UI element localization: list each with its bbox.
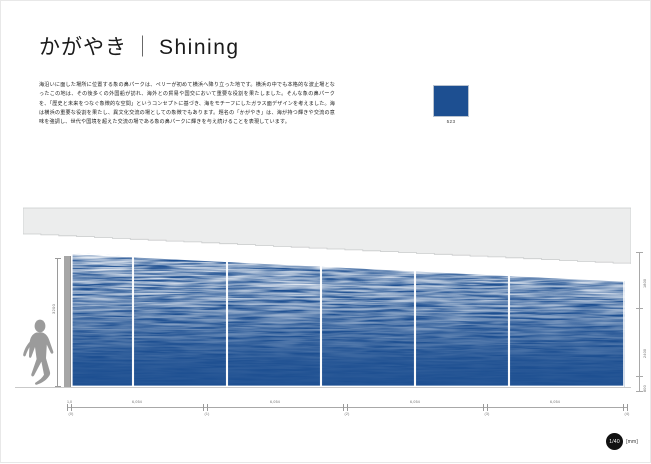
title-separator: ｜ (127, 36, 159, 59)
horizontal-dimension-segment: 6,054 (270, 400, 280, 404)
page-title: かがやき｜Shining (39, 31, 240, 61)
vertical-dimension-left (57, 258, 58, 387)
description-paragraph: 海沿いに面した場所に位置する象の鼻パークは、ペリーが初めて横浜へ降り立った地です… (39, 81, 335, 127)
vertical-dimension-line (639, 252, 640, 392)
color-swatch-label: 523 (433, 119, 469, 124)
horizontal-dimension-tick-label: (3) (485, 412, 490, 416)
description-block: 海沿いに面した場所に位置する象の鼻パークは、ペリーが初めて横浜へ降り立った地です… (39, 81, 335, 127)
vertical-dimension-label: 800 (643, 385, 647, 392)
color-swatch (433, 85, 469, 117)
horizontal-dimension-segment: 6,054 (550, 400, 560, 404)
color-swatch-group: 523 (433, 85, 469, 124)
scale-indicator: 1/40 [mm] (606, 433, 638, 450)
horizontal-dimension-tick-label: (4) (625, 412, 630, 416)
vertical-dimension-left-label: 3200 (51, 304, 56, 314)
title-japanese: かがやき (39, 36, 127, 59)
presentation-board: かがやき｜Shining 海沿いに面した場所に位置する象の鼻パークは、ペリーが初… (0, 0, 651, 463)
vertical-dimension-right: 1800 2400 800 (635, 252, 649, 392)
elevation-drawing: 3200 1800 2400 800 1,0 6,054 (1, 186, 651, 464)
scale-ratio: 1/40 (606, 433, 623, 450)
vertical-dimension-tick (636, 376, 643, 377)
scale-unit: [mm] (626, 439, 638, 445)
vertical-dimension-label: 1800 (643, 279, 647, 288)
horizontal-dimension-segment: 6,054 (410, 400, 420, 404)
horizontal-dimension: 1,0 6,054 6,054 6,054 6,054 (0) (1) (2) … (67, 404, 627, 420)
vertical-dimension-label: 2400 (643, 349, 647, 358)
vertical-dimension-tick (636, 252, 643, 253)
horizontal-dimension-segment: 6,054 (132, 400, 142, 404)
glass-curtain-wall (71, 253, 625, 389)
ground-line (15, 387, 631, 388)
horizontal-dimension-tick-label: (0) (69, 412, 74, 416)
vertical-dimension-tick (636, 308, 643, 309)
horizontal-dimension-tick-label: (1) (205, 412, 210, 416)
structural-column (64, 256, 71, 387)
title-english: Shining (159, 36, 240, 59)
horizontal-dimension-tick-label: (2) (345, 412, 350, 416)
vertical-dimension-tick (636, 391, 643, 392)
